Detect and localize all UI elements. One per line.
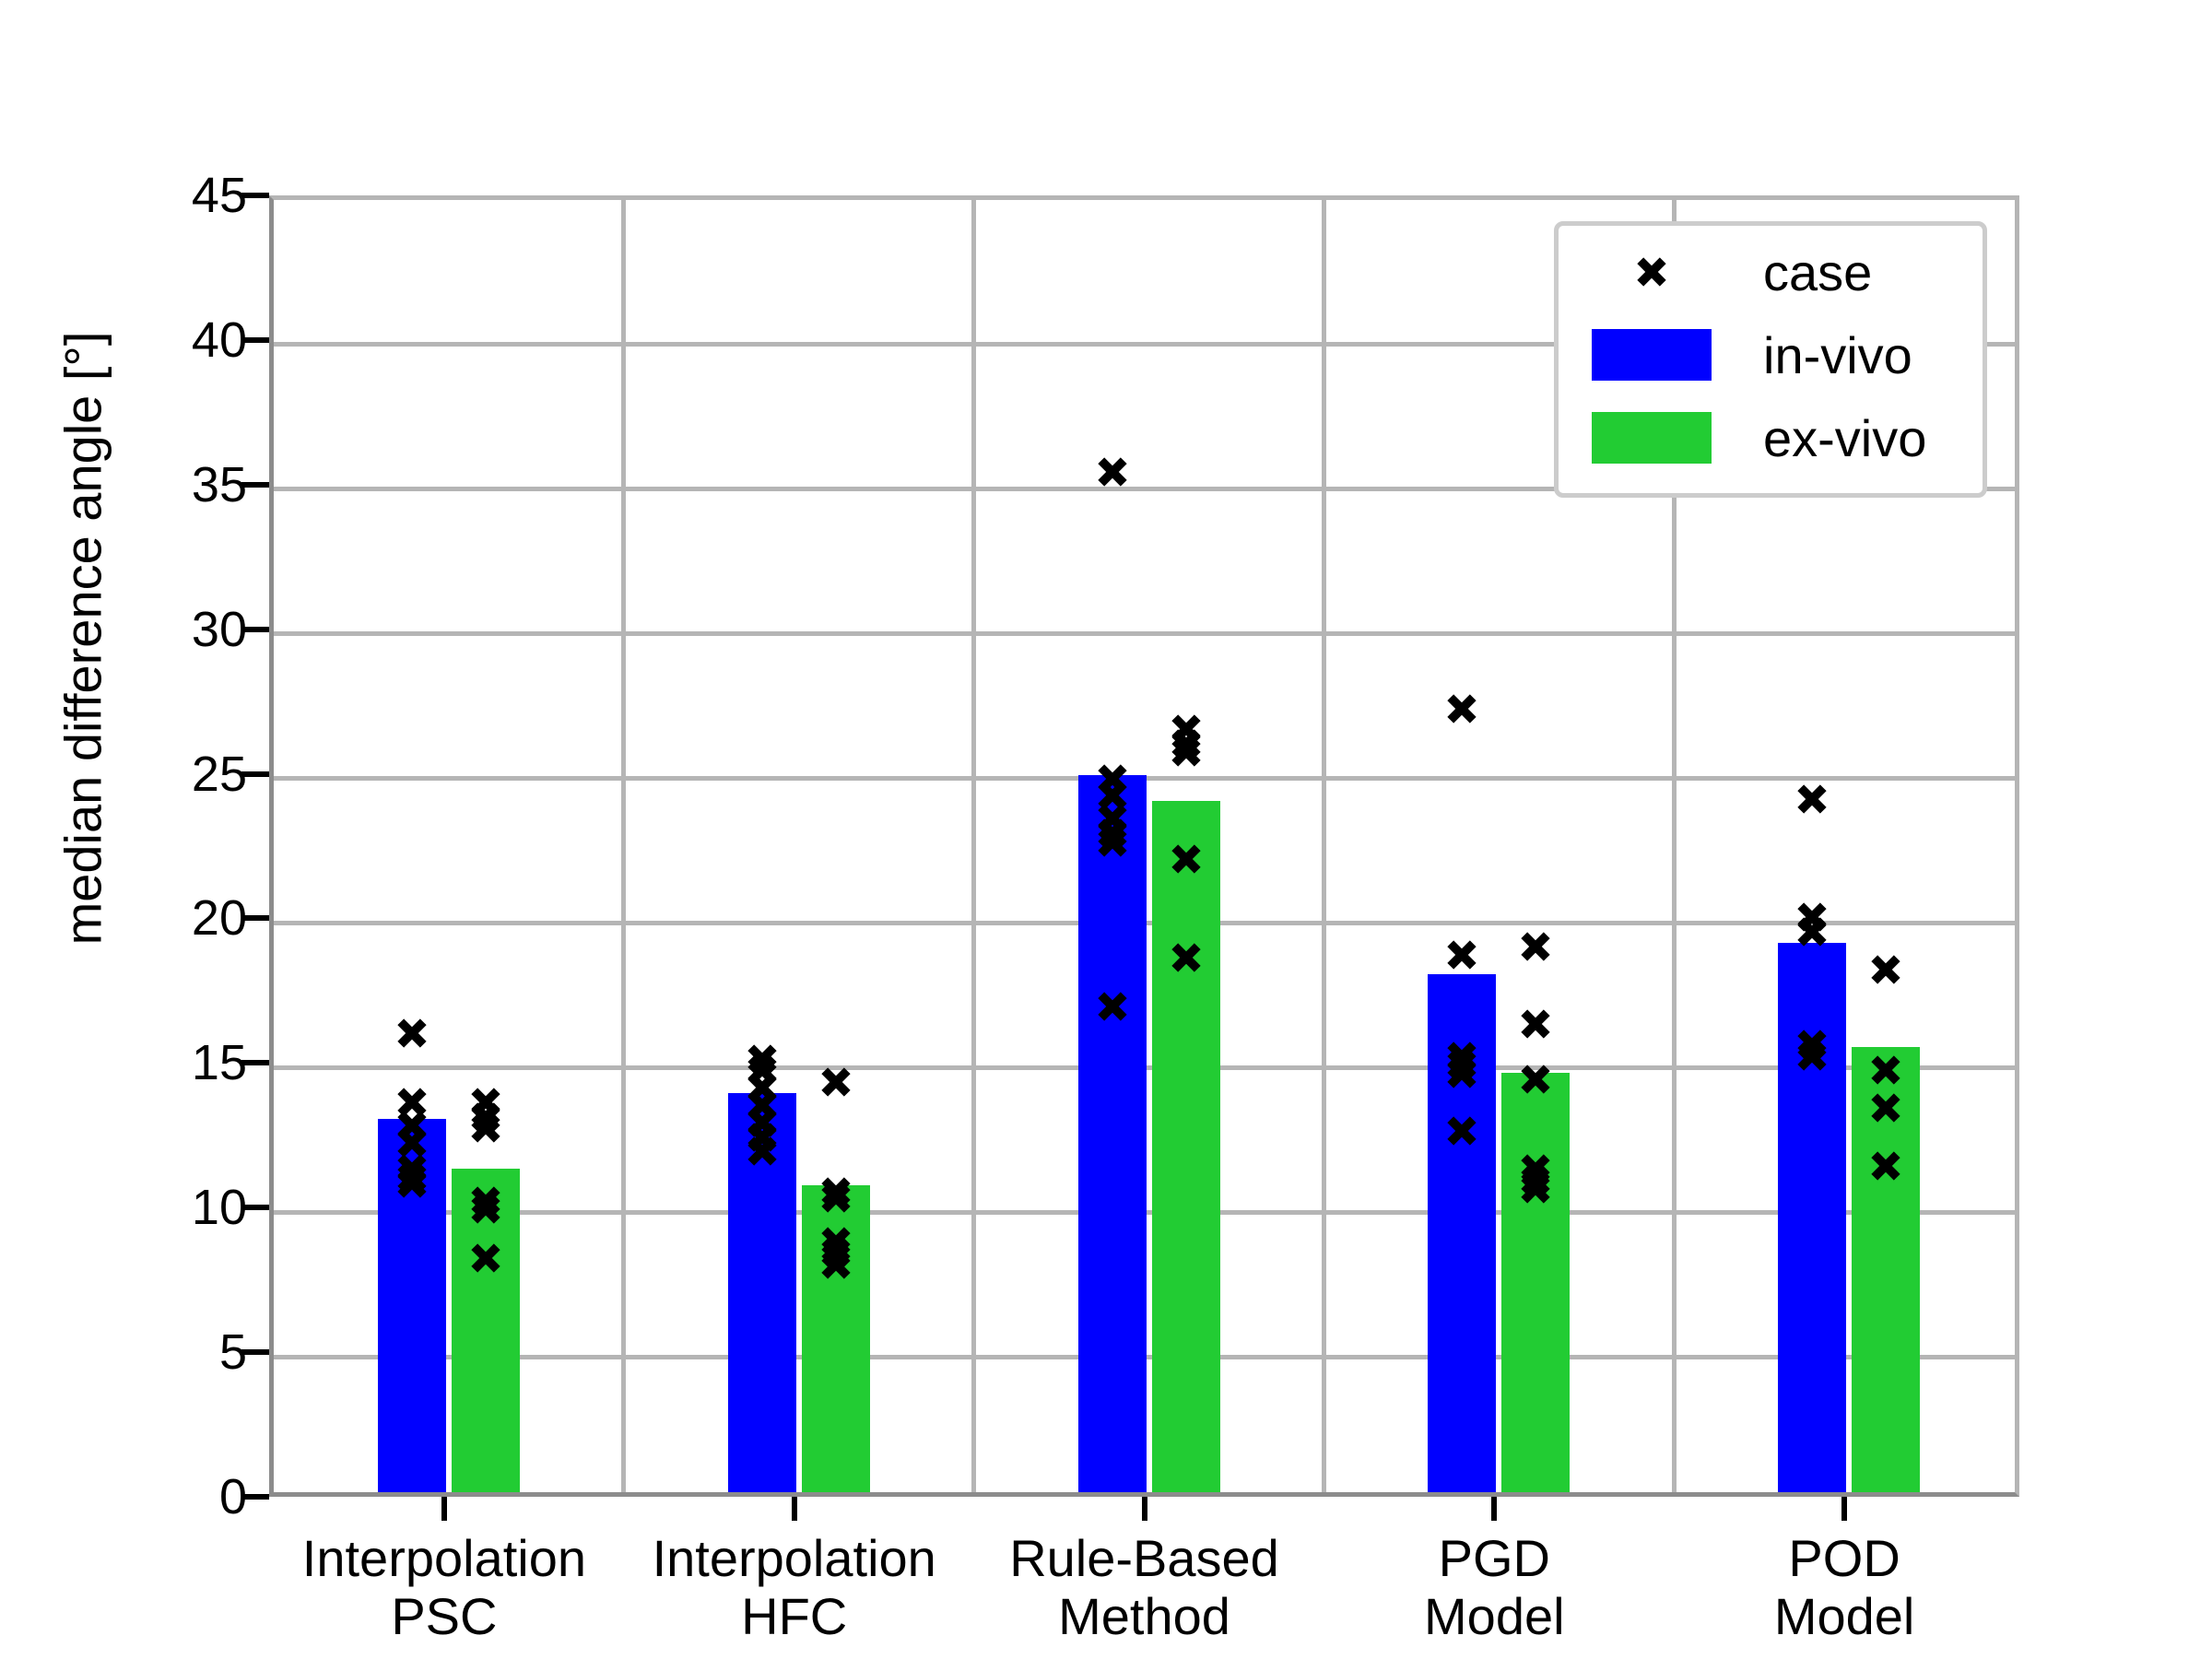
legend-label: case	[1763, 242, 1872, 302]
y-axis-tick-mark	[241, 1205, 269, 1210]
case-marker-icon	[1446, 1115, 1477, 1147]
x-axis-tick-label: Rule-BasedMethod	[1009, 1530, 1279, 1645]
y-axis-tick-label: 35	[192, 456, 247, 513]
y-axis-tick-mark	[241, 1349, 269, 1355]
y-axis-tick-mark	[241, 193, 269, 198]
x-axis-tick-label: InterpolationPSC	[302, 1530, 586, 1645]
x-axis-tick-mark	[1491, 1497, 1497, 1521]
y-axis-tick-label: 45	[192, 167, 247, 224]
case-marker-icon	[1520, 931, 1551, 962]
case-marker-icon	[1446, 939, 1477, 971]
case-marker-icon	[396, 1168, 428, 1199]
x-axis-tick-marks	[269, 1497, 2019, 1524]
y-axis-tick-label: 30	[192, 601, 247, 658]
x-axis-tick-label-line: Model	[1424, 1588, 1565, 1646]
case-marker-icon	[470, 1112, 501, 1144]
x-axis-tick-label-line: PGD	[1424, 1530, 1565, 1588]
x-axis-tick-label-line: HFC	[653, 1588, 936, 1646]
case-marker-icon	[820, 1182, 852, 1214]
x-axis-tick-label: PGDModel	[1424, 1530, 1565, 1645]
case-marker-icon	[470, 1194, 501, 1225]
x-axis-tick-label-line: Interpolation	[653, 1530, 936, 1588]
x-axis-tick-label-line: POD	[1774, 1530, 1915, 1588]
y-axis-tick-label: 40	[192, 312, 247, 369]
y-axis-label: median difference angle [°]	[53, 132, 113, 1146]
case-marker-icon	[1097, 827, 1128, 858]
x-axis-tick-mark	[1841, 1497, 1847, 1521]
case-marker-icon	[396, 1018, 428, 1049]
y-axis-tick-mark	[241, 771, 269, 777]
legend-swatch	[1592, 412, 1712, 464]
x-axis-tick-label-line: Method	[1009, 1588, 1279, 1646]
case-marker-icon	[1446, 693, 1477, 724]
y-axis-tick-mark	[241, 337, 269, 343]
x-axis-tick-label: InterpolationHFC	[653, 1530, 936, 1645]
chart-figure: median difference angle [°] 051015202530…	[0, 0, 2212, 1659]
case-marker-icon	[1796, 916, 1828, 947]
x-axis-tick-labels: InterpolationPSCInterpolationHFCRule-Bas…	[269, 1530, 2019, 1659]
x-axis-tick-label: PODModel	[1774, 1530, 1915, 1645]
case-marker-icon	[1171, 736, 1202, 768]
y-axis-tick-mark	[241, 627, 269, 632]
case-marker-icon	[1870, 1150, 1901, 1182]
y-axis-tick-label: 25	[192, 746, 247, 803]
y-axis-tick-label: 10	[192, 1179, 247, 1236]
legend-item-ex-vivo: ex-vivo	[1559, 401, 1983, 475]
case-marker-icon	[1870, 954, 1901, 985]
x-axis-tick-label-line: Rule-Based	[1009, 1530, 1279, 1588]
x-axis-tick-mark	[1142, 1497, 1147, 1521]
x-axis-tick-mark	[441, 1497, 447, 1521]
x-axis-tick-label-line: PSC	[302, 1588, 586, 1646]
legend-swatch	[1592, 329, 1712, 381]
y-axis-tick-mark	[241, 1060, 269, 1065]
case-marker-icon	[1520, 1173, 1551, 1205]
legend-case-marker-icon	[1592, 246, 1712, 298]
x-axis-tick-mark	[792, 1497, 797, 1521]
y-axis-tick-mark	[241, 1494, 269, 1500]
case-marker-icon	[1520, 1008, 1551, 1040]
case-marker-icon	[1171, 843, 1202, 875]
case-marker-icon	[1097, 456, 1128, 488]
case-marker-icon	[1171, 942, 1202, 973]
legend: casein-vivoex-vivo	[1554, 221, 1987, 498]
y-axis-tick-mark	[241, 915, 269, 921]
y-axis-tick-label: 15	[192, 1034, 247, 1091]
y-axis-tick-mark	[241, 482, 269, 488]
case-marker-icon	[1097, 991, 1128, 1022]
case-marker-icon	[1870, 1092, 1901, 1124]
case-marker-icon	[820, 1066, 852, 1098]
case-marker-icon	[747, 1135, 778, 1167]
x-axis-tick-label-line: Interpolation	[302, 1530, 586, 1588]
legend-item-in-vivo: in-vivo	[1559, 318, 1983, 392]
case-marker-icon	[1796, 783, 1828, 815]
legend-label: ex-vivo	[1763, 408, 1926, 468]
case-marker-icon	[1796, 1041, 1828, 1072]
y-axis-tick-label: 20	[192, 889, 247, 947]
y-axis-tick-labels: 051015202530354045	[111, 195, 247, 1497]
case-marker-icon	[1520, 1064, 1551, 1095]
case-marker-icon	[820, 1249, 852, 1280]
x-axis-tick-label-line: Model	[1774, 1588, 1915, 1646]
case-marker-icon	[1870, 1054, 1901, 1086]
case-marker-icon	[470, 1242, 501, 1274]
legend-label: in-vivo	[1763, 325, 1912, 385]
case-marker-icon	[1446, 1058, 1477, 1089]
legend-item-case: case	[1559, 235, 1983, 309]
